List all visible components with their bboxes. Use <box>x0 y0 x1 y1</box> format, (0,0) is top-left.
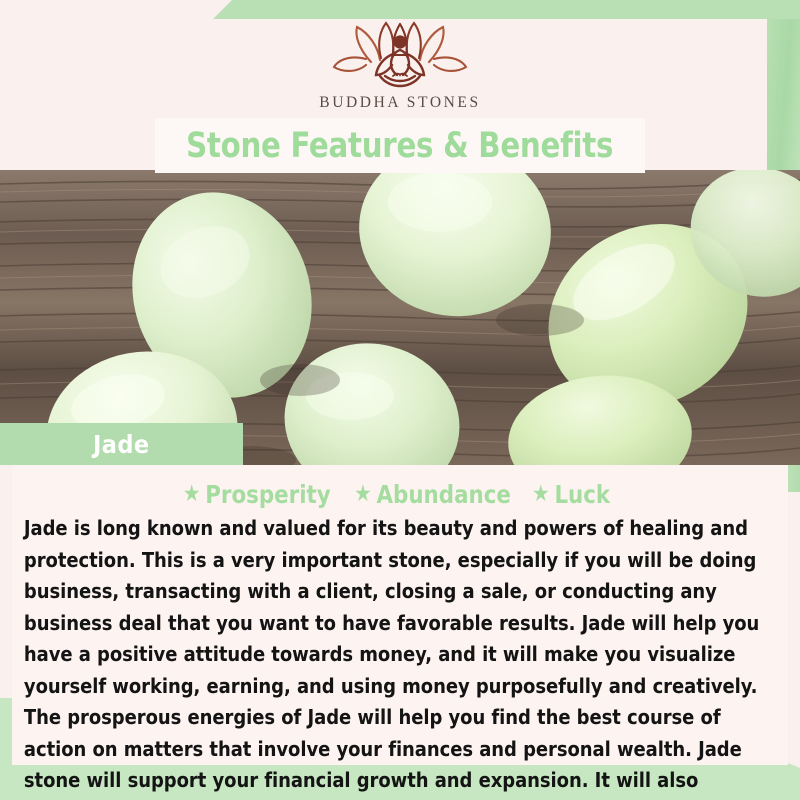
star-icon: ★ <box>354 483 372 506</box>
decorative-top-band <box>213 0 800 19</box>
stone-name-banner: Jade <box>0 423 243 465</box>
content-panel: ★ Prosperity ★ Abundance ★ Luck Jade is … <box>12 465 788 765</box>
benefit-label: Abundance <box>376 480 510 509</box>
lotus-meditation-icon <box>325 18 475 90</box>
stone-photo <box>0 170 800 465</box>
benefit-label: Prosperity <box>205 480 330 509</box>
benefit-item: ★ Luck <box>532 480 610 509</box>
stone-info-card: BUDDHA STONES Stone Features & Benefits <box>0 0 800 800</box>
benefit-item: ★ Prosperity <box>183 480 331 509</box>
star-icon: ★ <box>183 483 201 506</box>
brand-name: BUDDHA STONES <box>319 94 480 112</box>
stone-description: Jade is long known and valued for its be… <box>18 513 771 800</box>
brand-logo: BUDDHA STONES <box>0 18 800 118</box>
title-bar: Stone Features & Benefits <box>155 118 645 173</box>
star-icon: ★ <box>532 483 550 506</box>
page-title: Stone Features & Benefits <box>186 126 613 166</box>
benefit-label: Luck <box>554 480 610 509</box>
benefits-list: ★ Prosperity ★ Abundance ★ Luck <box>18 476 782 512</box>
benefit-item: ★ Abundance <box>354 480 511 509</box>
decorative-right-corner <box>767 0 800 19</box>
stone-name: Jade <box>93 430 150 459</box>
